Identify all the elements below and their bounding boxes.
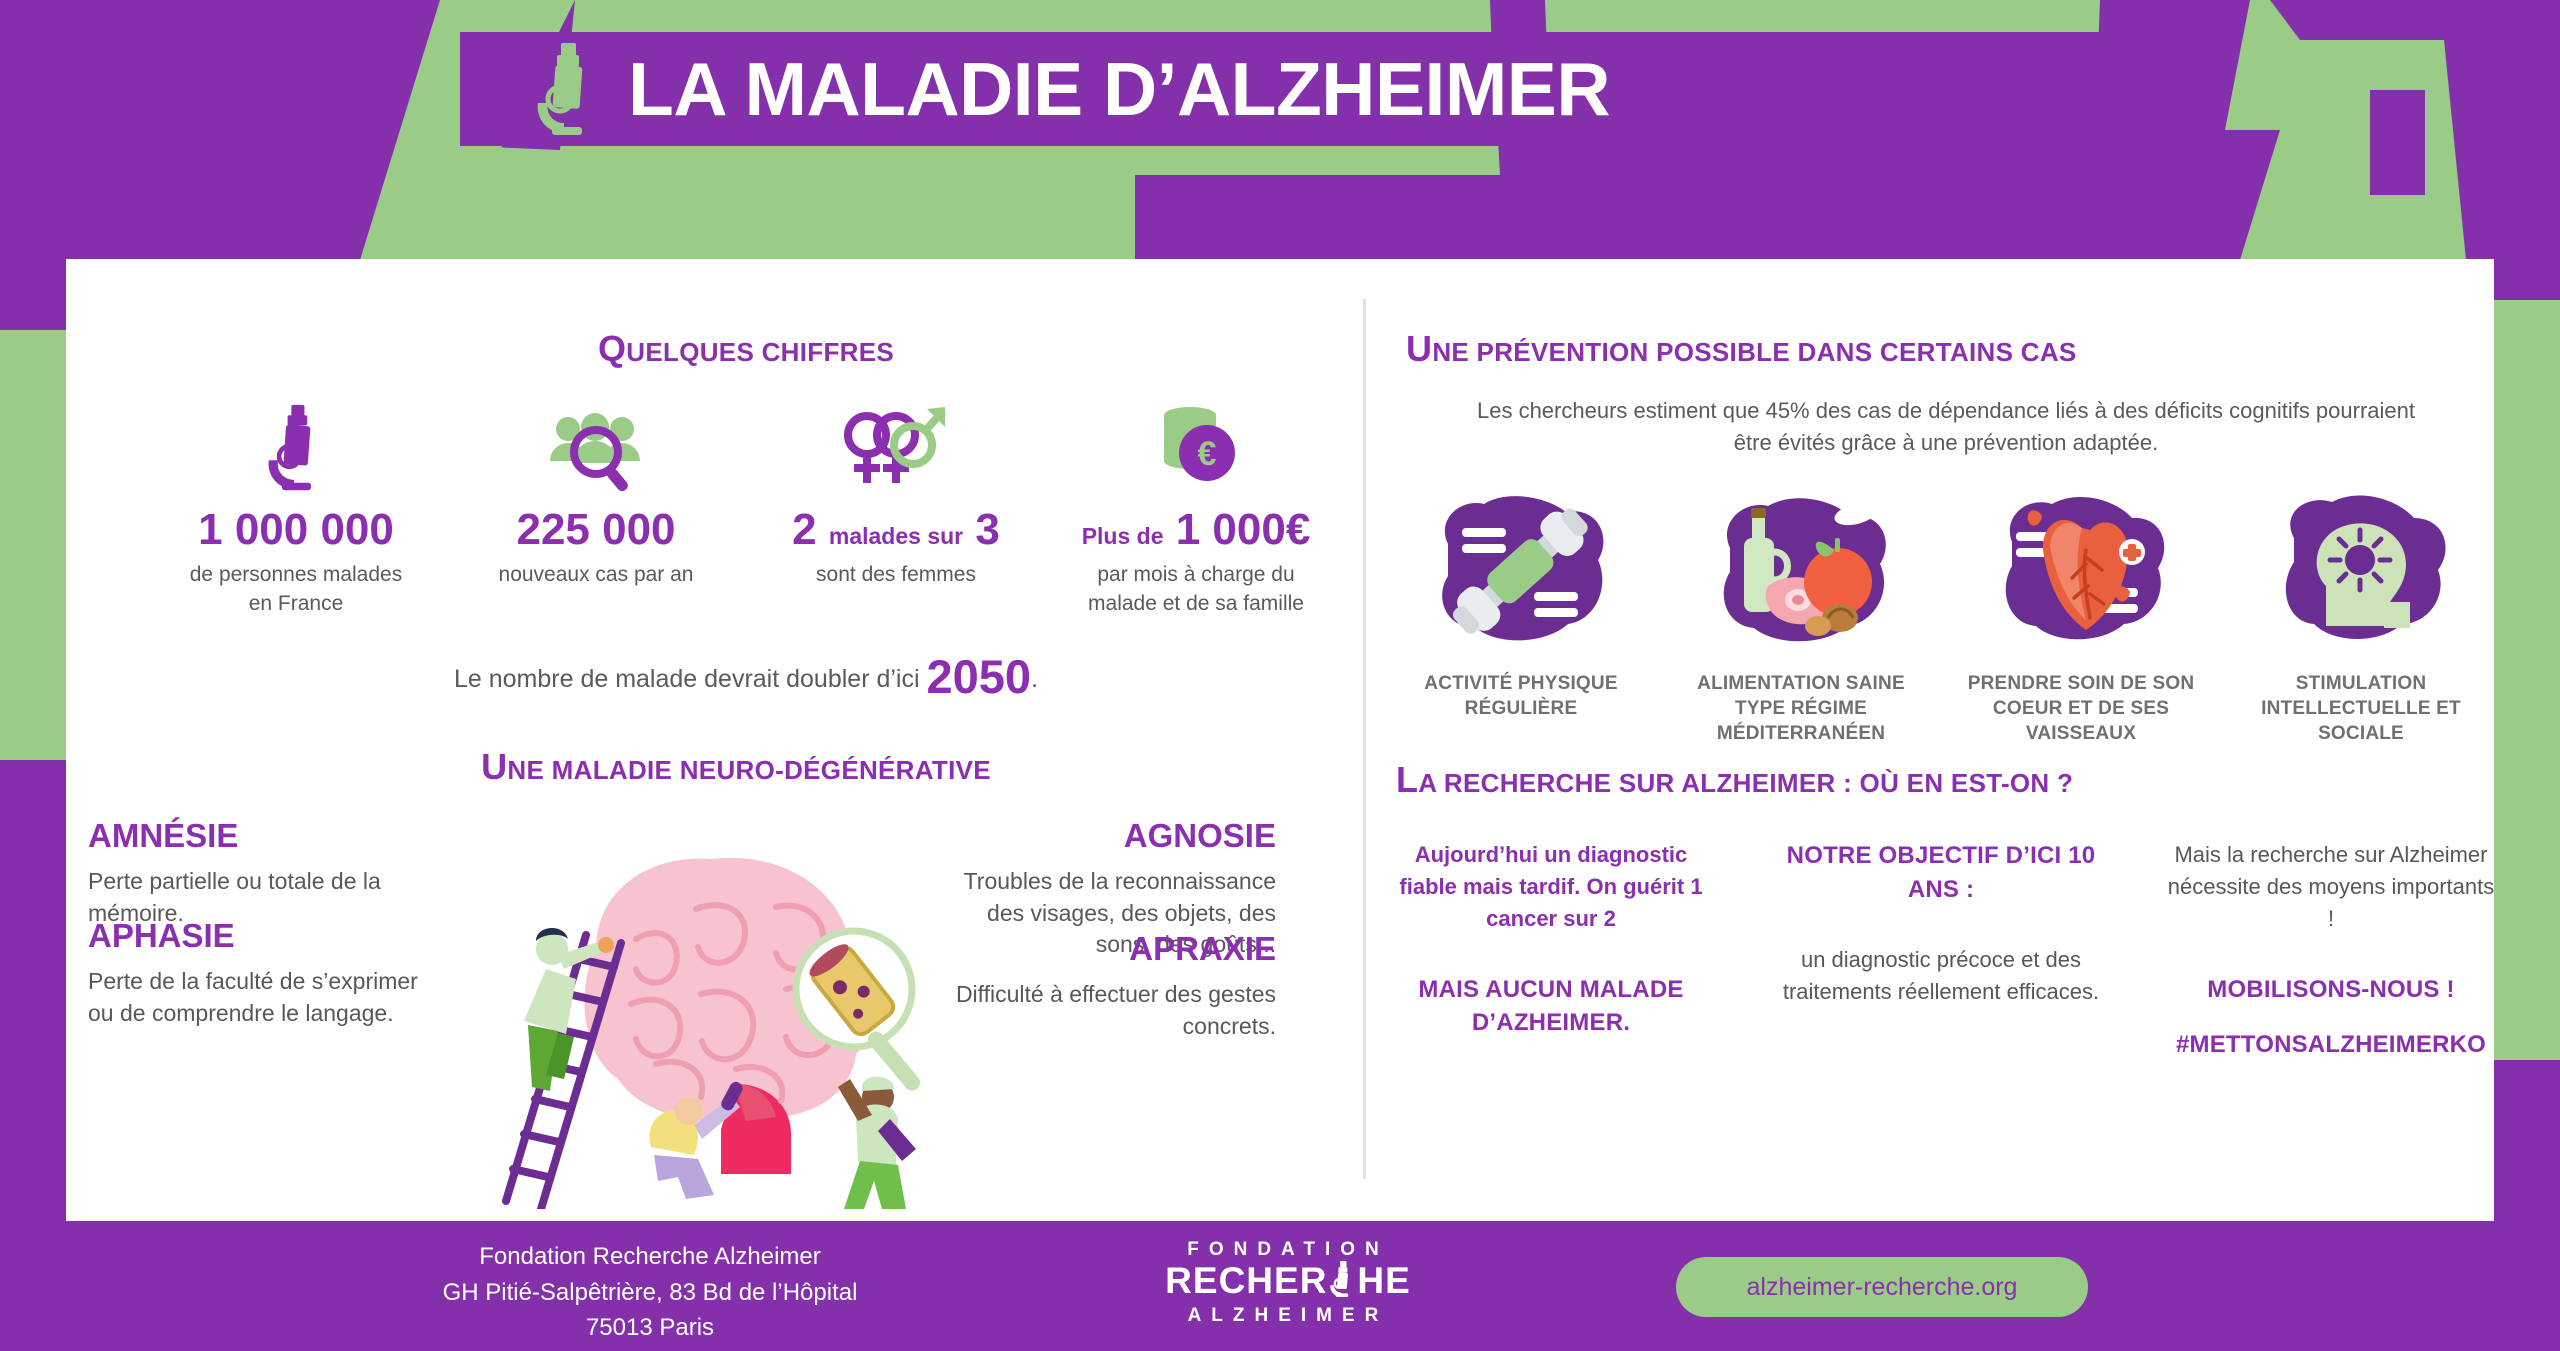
logo-recherche-a: RECHER bbox=[1165, 1260, 1327, 1301]
section-heading-prevention: UNE PRÉVENTION POSSIBLE DANS CERTAINS CA… bbox=[1406, 331, 2466, 367]
doubling-year: 2050 bbox=[927, 650, 1032, 703]
people-search-icon bbox=[544, 407, 648, 493]
stat-sub: de personnes malades en France bbox=[156, 561, 436, 618]
infographic-poster: LA MALADIE D’ALZHEIMER QUELQUES CHIFFRES bbox=[0, 0, 2560, 1351]
stat-sub-line: de personnes malades bbox=[156, 561, 436, 589]
recherche-col2-top: NOTRE OBJECTIF D’ICI 10 ANS : bbox=[1776, 839, 2106, 906]
stat-sub-line: en France bbox=[156, 590, 436, 618]
stat-sub: par mois à charge du malade et de sa fam… bbox=[1056, 561, 1336, 618]
prevention-heading-rest: NE PRÉVENTION POSSIBLE DANS CERTAINS CAS bbox=[1432, 337, 2076, 367]
stat-sub: sont des femmes bbox=[756, 561, 1036, 589]
microscope-icon bbox=[530, 41, 602, 137]
symptom-title: APRAXIE bbox=[946, 932, 1276, 965]
doubling-text-after: . bbox=[1031, 665, 1038, 693]
recherche-columns: Aujourd’hui un diagnostic fiable mais ta… bbox=[1386, 839, 2496, 1062]
gender-symbols-icon bbox=[841, 401, 951, 493]
stats-row: 1 000 000 de personnes malades en France bbox=[156, 397, 1336, 618]
standing-person bbox=[838, 1077, 916, 1209]
stat-value: Plus de 1 000€ bbox=[1056, 507, 1336, 553]
recherche-col2-bottom: un diagnostic précoce et des traitements… bbox=[1776, 944, 2106, 1008]
recherche-col1-bottom: MAIS AUCUN MALADE D’AZHEIMER. bbox=[1386, 973, 1716, 1040]
microscope-icon bbox=[1327, 1261, 1357, 1305]
address-line: GH Pitié-Salpêtrière, 83 Bd de l’Hôpital bbox=[200, 1275, 1100, 1311]
prevention-label: ALIMENTATION SAINE TYPE RÉGIME MÉDITERRA… bbox=[1676, 671, 1926, 746]
stat-value-amount: 1 000€ bbox=[1176, 505, 1311, 554]
brain-with-people-illustration bbox=[446, 829, 966, 1209]
address-line: Fondation Recherche Alzheimer bbox=[200, 1239, 1100, 1275]
stat-card: € Plus de 1 000€ par mois à charge du ma… bbox=[1056, 397, 1336, 618]
doubling-text-before: Le nombre de malade devrait doubler d’ic… bbox=[454, 665, 920, 693]
stat-sub-line: nouveaux cas par an bbox=[456, 561, 736, 589]
stat-value-start: 2 bbox=[792, 505, 816, 554]
symptom-apraxie: APRAXIE Difficulté à effectuer des geste… bbox=[946, 932, 1276, 1042]
poster-header: LA MALADIE D’ALZHEIMER bbox=[460, 32, 2100, 146]
recherche-hashtag: #METTONSALZHEIMERKO bbox=[2166, 1028, 2496, 1062]
section-heading-chiffres: QUELQUES CHIFFRES bbox=[396, 331, 1096, 367]
recherche-col3-bottom: MOBILISONS-NOUS ! bbox=[2166, 973, 2496, 1007]
stat-value-mid: malades sur bbox=[829, 523, 963, 549]
dumbbell-icon bbox=[1426, 494, 1616, 654]
stat-value-end: 3 bbox=[975, 505, 999, 554]
symptom-amnesie: AMNÉSIE Perte partielle ou totale de la … bbox=[88, 819, 418, 929]
brain-head-sun-icon bbox=[2266, 494, 2456, 654]
stat-card: 1 000 000 de personnes malades en France bbox=[156, 397, 436, 618]
stat-card: 225 000 nouveaux cas par an bbox=[456, 397, 736, 590]
website-button[interactable]: alzheimer-recherche.org bbox=[1676, 1257, 2088, 1317]
stat-value: 1 000 000 bbox=[156, 507, 436, 553]
logo-recherche-b: HE bbox=[1357, 1260, 1410, 1301]
foundation-logo: FONDATION RECHERHE ALZHEIMER bbox=[1128, 1239, 1448, 1327]
logo-line-alzheimer: ALZHEIMER bbox=[1128, 1305, 1448, 1327]
svg-text:€: € bbox=[1198, 435, 1217, 473]
recherche-column-1: Aujourd’hui un diagnostic fiable mais ta… bbox=[1386, 839, 1716, 1062]
address-line: 75013 Paris bbox=[200, 1310, 1100, 1346]
symptom-title: APHASIE bbox=[88, 919, 418, 952]
microscope-icon bbox=[260, 403, 332, 493]
stat-sub-line: par mois à charge du bbox=[1056, 561, 1336, 589]
poster-footer: Fondation Recherche Alzheimer GH Pitié-S… bbox=[0, 1221, 2560, 1351]
recherche-heading-rest: A RECHERCHE SUR ALZHEIMER : OÙ EN EST-ON… bbox=[1418, 768, 2073, 798]
prevention-label: PRENDRE SOIN DE SON COEUR ET DE SES VAIS… bbox=[1956, 671, 2206, 746]
prevention-heading-cap: U bbox=[1406, 328, 1432, 369]
prevention-item: ALIMENTATION SAINE TYPE RÉGIME MÉDITERRA… bbox=[1676, 489, 1926, 746]
symptom-body: Perte de la faculté de s’exprimer ou de … bbox=[88, 966, 418, 1029]
symptom-title: AGNOSIE bbox=[946, 819, 1276, 852]
section-heading-recherche: LA RECHERCHE SUR ALZHEIMER : OÙ EN EST-O… bbox=[1396, 762, 2486, 798]
prevention-item: STIMULATION INTELLECTUELLE ET SOCIALE bbox=[2236, 489, 2486, 746]
neuro-heading-cap: U bbox=[481, 746, 507, 787]
mediterranean-food-icon bbox=[1706, 494, 1896, 654]
doubling-statement: Le nombre de malade devrait doubler d’ic… bbox=[296, 649, 1196, 704]
recherche-column-3: Mais la recherche sur Alzheimer nécessit… bbox=[2166, 839, 2496, 1062]
prevention-item: PRENDRE SOIN DE SON COEUR ET DE SES VAIS… bbox=[1956, 489, 2206, 746]
recherche-col3-top: Mais la recherche sur Alzheimer nécessit… bbox=[2166, 839, 2496, 935]
symptom-body: Difficulté à effectuer des gestes concre… bbox=[946, 979, 1276, 1042]
coins-euro-icon: € bbox=[1154, 403, 1238, 493]
footer-address: Fondation Recherche Alzheimer GH Pitié-S… bbox=[200, 1239, 1100, 1346]
page-title: LA MALADIE D’ALZHEIMER bbox=[628, 52, 1610, 127]
stat-value: 225 000 bbox=[456, 507, 736, 553]
logo-line-fondation: FONDATION bbox=[1128, 1239, 1448, 1261]
stat-value-prefix: Plus de bbox=[1082, 523, 1164, 549]
symptom-aphasie: APHASIE Perte de la faculté de s’exprime… bbox=[88, 919, 418, 1029]
neuro-heading-rest: NE MALADIE NEURO-DÉGÉNÉRATIVE bbox=[507, 755, 990, 785]
main-card: QUELQUES CHIFFRES 1 000 000 d bbox=[66, 259, 2494, 1221]
recherche-col1-top: Aujourd’hui un diagnostic fiable mais ta… bbox=[1386, 839, 1716, 935]
stat-sub: nouveaux cas par an bbox=[456, 561, 736, 589]
stat-sub-line: sont des femmes bbox=[756, 561, 1036, 589]
chiffres-heading-rest: UELQUES CHIFFRES bbox=[626, 337, 894, 367]
logo-line-recherche: RECHERHE bbox=[1128, 1261, 1448, 1305]
prevention-items: ACTIVITÉ PHYSIQUE RÉGULIÈRE bbox=[1396, 489, 2486, 746]
prevention-intro: Les chercheurs estiment que 45% des cas … bbox=[1466, 395, 2426, 459]
column-divider bbox=[1363, 299, 1366, 1179]
chiffres-heading-cap: Q bbox=[598, 328, 626, 369]
prevention-label: STIMULATION INTELLECTUELLE ET SOCIALE bbox=[2236, 671, 2486, 746]
stat-value: 2 malades sur 3 bbox=[756, 507, 1036, 553]
stat-card: 2 malades sur 3 sont des femmes bbox=[756, 397, 1036, 590]
recherche-column-2: NOTRE OBJECTIF D’ICI 10 ANS : un diagnos… bbox=[1776, 839, 2106, 1062]
section-heading-neuro: UNE MALADIE NEURO-DÉGÉNÉRATIVE bbox=[126, 749, 1346, 785]
prevention-item: ACTIVITÉ PHYSIQUE RÉGULIÈRE bbox=[1396, 489, 1646, 746]
stat-sub-line: malade et de sa famille bbox=[1056, 590, 1336, 618]
symptom-title: AMNÉSIE bbox=[88, 819, 418, 852]
recherche-heading-cap: L bbox=[1396, 759, 1418, 800]
heart-icon bbox=[1986, 494, 2176, 654]
prevention-label: ACTIVITÉ PHYSIQUE RÉGULIÈRE bbox=[1396, 671, 1646, 721]
